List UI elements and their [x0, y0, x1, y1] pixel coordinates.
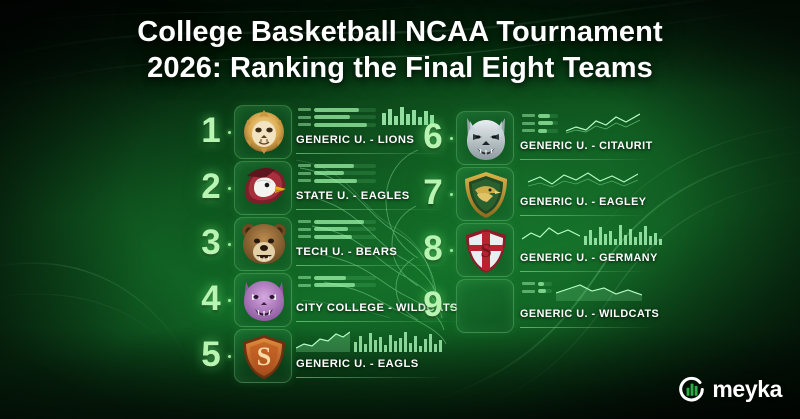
- brand-name: meyka: [712, 376, 782, 403]
- team-logo-card[interactable]: [456, 111, 514, 165]
- team-info: GENERIC U. - EAGLEY: [520, 166, 690, 220]
- team-name: GENERIC U. - EAGLS: [296, 358, 419, 370]
- meyka-circle-bars-logo: [678, 376, 705, 403]
- stat-bar-row: [298, 107, 376, 112]
- stat-bar-row: [522, 128, 558, 133]
- team-name: TECH U. - BEARS: [296, 246, 397, 258]
- stat-fill: [314, 235, 352, 239]
- rank-number: 6: [418, 116, 448, 158]
- ranking-column-right: 6: [418, 110, 638, 334]
- stat-track: [314, 283, 376, 287]
- team-stat-bars: [298, 275, 376, 290]
- team-info: GENERIC U. - CITAURIT: [520, 110, 690, 164]
- shield-s-red-logo: S: [457, 224, 514, 277]
- team-underline: [296, 377, 446, 378]
- stat-label: [298, 164, 311, 167]
- rank-bullet-dot: [228, 299, 231, 302]
- stat-bar-row: [298, 227, 376, 232]
- team-logo-card[interactable]: [234, 273, 292, 327]
- page-title: College Basketball NCAA Tournament 2026:…: [0, 14, 800, 86]
- stat-bar-row: [298, 163, 376, 168]
- rank-number: 8: [418, 228, 448, 270]
- stat-track: [314, 123, 376, 127]
- stat-fill: [314, 283, 355, 287]
- stat-bar-row: [298, 283, 376, 288]
- stat-fill: [538, 282, 544, 286]
- team-name: STATE U. - EAGLES: [296, 190, 410, 202]
- stat-track: [314, 171, 376, 175]
- ranking-row[interactable]: 4: [196, 272, 411, 328]
- stat-fill: [314, 171, 344, 175]
- micro-bar-chart: [584, 223, 662, 245]
- stat-label: [298, 172, 311, 175]
- svg-text:S: S: [480, 240, 491, 262]
- rank-bullet-dot: [228, 243, 231, 246]
- stat-fill: [538, 289, 546, 293]
- lion-head-logo: [235, 106, 292, 159]
- rank-bullet-dot: [450, 137, 453, 140]
- stat-label: [522, 129, 535, 132]
- micro-line-chart: [522, 223, 580, 245]
- stat-bar-row: [298, 234, 376, 239]
- stat-track: [314, 235, 376, 239]
- team-stat-bars: [298, 219, 376, 242]
- infographic-canvas: College Basketball NCAA Tournament 2026:…: [0, 0, 800, 419]
- ranking-row[interactable]: 1: [196, 104, 411, 160]
- ranking-column-left: 1: [196, 104, 411, 384]
- stat-label: [298, 108, 311, 111]
- stat-track: [538, 114, 558, 118]
- stat-track: [314, 220, 376, 224]
- rank-bullet-dot: [450, 305, 453, 308]
- rank-number: 5: [196, 334, 226, 376]
- team-logo-card[interactable]: S: [456, 223, 514, 277]
- stat-bar-row: [522, 289, 552, 294]
- stat-label: [298, 228, 311, 231]
- stat-bar-row: [298, 219, 376, 224]
- stat-label: [522, 122, 535, 125]
- team-logo-card[interactable]: [234, 217, 292, 271]
- rank-bullet-dot: [450, 193, 453, 196]
- rank-number: 9: [418, 284, 448, 326]
- team-info: GENERIC U. - EAGLS: [296, 328, 526, 382]
- stat-bar-row: [522, 113, 558, 118]
- ranking-row[interactable]: 3: [196, 216, 411, 272]
- team-underline: [520, 159, 650, 160]
- team-stat-bars: [522, 281, 552, 296]
- ranking-row[interactable]: 5 S: [196, 328, 411, 384]
- stat-bar-row: [522, 121, 558, 126]
- stat-fill: [314, 220, 364, 224]
- bear-head-logo: [235, 218, 292, 271]
- team-name: GENERIC U. - WILDCATS: [520, 308, 659, 320]
- team-logo-card[interactable]: [456, 167, 514, 221]
- brand-logo[interactable]: meyka: [678, 376, 782, 403]
- stat-bar-row: [298, 122, 376, 127]
- micro-area-chart: [296, 330, 350, 352]
- shield-eagle-gold-logo: [457, 168, 514, 221]
- ranking-row[interactable]: 7: [418, 166, 638, 222]
- title-line-1: College Basketball NCAA Tournament: [137, 16, 663, 48]
- stat-bar-row: [298, 275, 376, 280]
- ranking-row[interactable]: 6: [418, 110, 638, 166]
- svg-text:S: S: [257, 342, 271, 371]
- stat-label: [298, 235, 311, 238]
- stat-label: [298, 179, 311, 182]
- stat-fill: [314, 115, 350, 119]
- stat-label: [298, 116, 311, 119]
- team-stat-bars: [298, 163, 376, 186]
- stat-label: [298, 123, 311, 126]
- team-logo-card[interactable]: S: [234, 329, 292, 383]
- stat-fill: [538, 114, 550, 118]
- eagle-head-logo: [235, 162, 292, 215]
- wolf-head-logo: [457, 112, 514, 165]
- team-name: GENERIC U. - EAGLEY: [520, 196, 646, 208]
- stat-fill: [314, 227, 348, 231]
- stat-label: [298, 284, 311, 287]
- ranking-row[interactable]: 9 GENERIC U. - WI: [418, 278, 638, 334]
- ranking-row[interactable]: 8 S: [418, 222, 638, 278]
- stat-track: [314, 179, 376, 183]
- stat-track: [314, 115, 376, 119]
- rank-bullet-dot: [450, 249, 453, 252]
- ranking-board: 1: [0, 104, 800, 379]
- stat-bar-row: [298, 115, 376, 120]
- team-logo-card[interactable]: [456, 279, 514, 333]
- team-underline: [520, 215, 646, 216]
- stat-bar-row: [298, 178, 376, 183]
- micro-line-chart: [566, 111, 640, 135]
- team-name: GENERIC U. - GERMANY: [520, 252, 658, 264]
- title-line-2: 2026: Ranking the Final Eight Teams: [0, 50, 800, 86]
- rank-number: 7: [418, 172, 448, 214]
- stat-track: [314, 108, 376, 112]
- team-underline: [520, 327, 654, 328]
- team-name: GENERIC U. - LIONS: [296, 134, 414, 146]
- micro-line-chart: [528, 168, 638, 190]
- stat-label: [522, 290, 535, 293]
- stat-fill: [538, 121, 553, 125]
- rank-number: 1: [196, 110, 226, 152]
- empty-card: [457, 280, 514, 333]
- team-info: GENERIC U. - WILDCATS: [520, 278, 690, 332]
- rank-number: 2: [196, 166, 226, 208]
- team-logo-card[interactable]: [234, 105, 292, 159]
- stat-fill: [314, 123, 367, 127]
- stat-label: [522, 114, 535, 117]
- stat-fill: [314, 179, 357, 183]
- stat-fill: [538, 129, 547, 133]
- stat-track: [538, 121, 558, 125]
- rank-bullet-dot: [228, 187, 231, 190]
- team-name: GENERIC U. - CITAURIT: [520, 140, 653, 152]
- team-underline: [520, 271, 648, 272]
- stat-fill: [314, 276, 346, 280]
- team-stat-bars: [522, 113, 558, 136]
- stat-label: [298, 276, 311, 279]
- stat-track: [538, 129, 558, 133]
- stat-bar-row: [522, 281, 552, 286]
- rank-bullet-dot: [228, 131, 231, 134]
- stat-track: [314, 227, 376, 231]
- stat-label: [522, 282, 535, 285]
- stat-track: [538, 282, 552, 286]
- team-stat-bars: [298, 107, 376, 130]
- stat-track: [314, 276, 376, 280]
- wildcat-head-logo: [235, 274, 292, 327]
- team-info: GENERIC U. - GERMANY: [520, 222, 690, 276]
- stat-label: [298, 220, 311, 223]
- rank-number: 4: [196, 278, 226, 320]
- stat-fill: [314, 164, 354, 168]
- micro-area-chart: [556, 279, 642, 301]
- stat-track: [314, 164, 376, 168]
- rank-bullet-dot: [228, 355, 231, 358]
- ranking-row[interactable]: 2: [196, 160, 411, 216]
- team-logo-card[interactable]: [234, 161, 292, 215]
- stat-track: [538, 289, 552, 293]
- rank-number: 3: [196, 222, 226, 264]
- shield-s-orange-logo: S: [235, 330, 292, 383]
- stat-bar-row: [298, 171, 376, 176]
- stat-fill: [314, 108, 359, 112]
